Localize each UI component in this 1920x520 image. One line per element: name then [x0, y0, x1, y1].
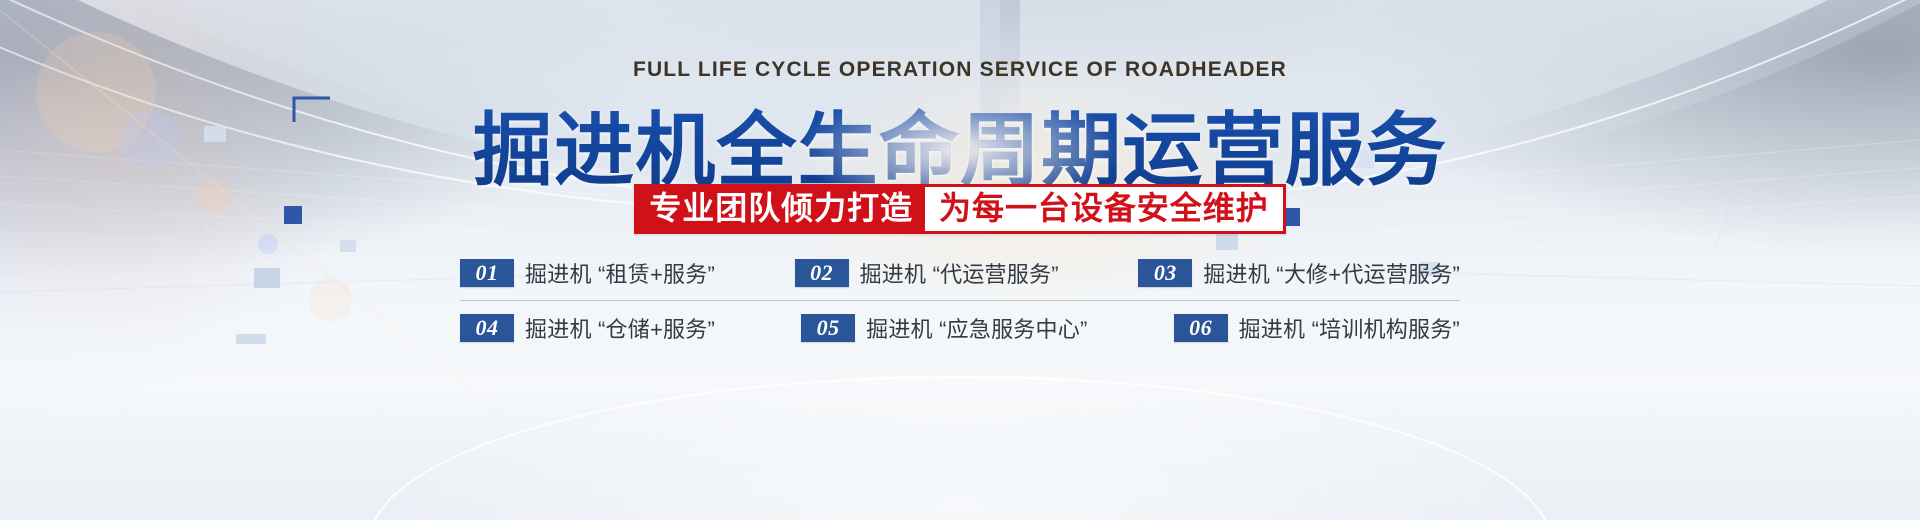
service-list: 01 掘进机 “租赁+服务” 02 掘进机 “代运营服务” 03 掘进机 “大修…	[460, 246, 1460, 355]
slogan: 专业团队倾力打造 为每一台设备安全维护	[0, 184, 1920, 234]
service-number-badge: 03	[1138, 259, 1192, 287]
service-item-01[interactable]: 01 掘进机 “租赁+服务”	[460, 257, 715, 289]
roadheader-banner: FULL LIFE CYCLE OPERATION SERVICE OF ROA…	[0, 0, 1920, 520]
service-label: 掘进机 “应急服务中心”	[866, 312, 1087, 344]
eyebrow-text: FULL LIFE CYCLE OPERATION SERVICE OF ROA…	[0, 58, 1920, 82]
service-item-04[interactable]: 04 掘进机 “仓储+服务”	[460, 312, 715, 344]
service-item-02[interactable]: 02 掘进机 “代运营服务”	[795, 257, 1059, 289]
slogan-box: 专业团队倾力打造 为每一台设备安全维护	[634, 184, 1285, 234]
service-row-bottom: 04 掘进机 “仓储+服务” 05 掘进机 “应急服务中心” 06 掘进机 “培…	[460, 301, 1460, 355]
service-number-badge: 02	[795, 259, 849, 287]
service-number-badge: 06	[1174, 314, 1228, 342]
service-number-badge: 04	[460, 314, 514, 342]
service-item-06[interactable]: 06 掘进机 “培训机构服务”	[1174, 312, 1460, 344]
service-label: 掘进机 “培训机构服务”	[1239, 312, 1460, 344]
service-item-05[interactable]: 05 掘进机 “应急服务中心”	[801, 312, 1087, 344]
service-label: 掘进机 “代运营服务”	[860, 257, 1059, 289]
banner-content: FULL LIFE CYCLE OPERATION SERVICE OF ROA…	[0, 0, 1920, 520]
slogan-secondary: 为每一台设备安全维护	[925, 187, 1283, 231]
service-item-03[interactable]: 03 掘进机 “大修+代运营服务”	[1138, 257, 1460, 289]
slogan-primary: 专业团队倾力打造	[637, 187, 925, 231]
service-number-badge: 01	[460, 259, 514, 287]
service-label: 掘进机 “大修+代运营服务”	[1203, 257, 1460, 289]
service-label: 掘进机 “租赁+服务”	[525, 257, 715, 289]
service-row-top: 01 掘进机 “租赁+服务” 02 掘进机 “代运营服务” 03 掘进机 “大修…	[460, 246, 1460, 301]
service-label: 掘进机 “仓储+服务”	[525, 312, 715, 344]
service-number-badge: 05	[801, 314, 855, 342]
